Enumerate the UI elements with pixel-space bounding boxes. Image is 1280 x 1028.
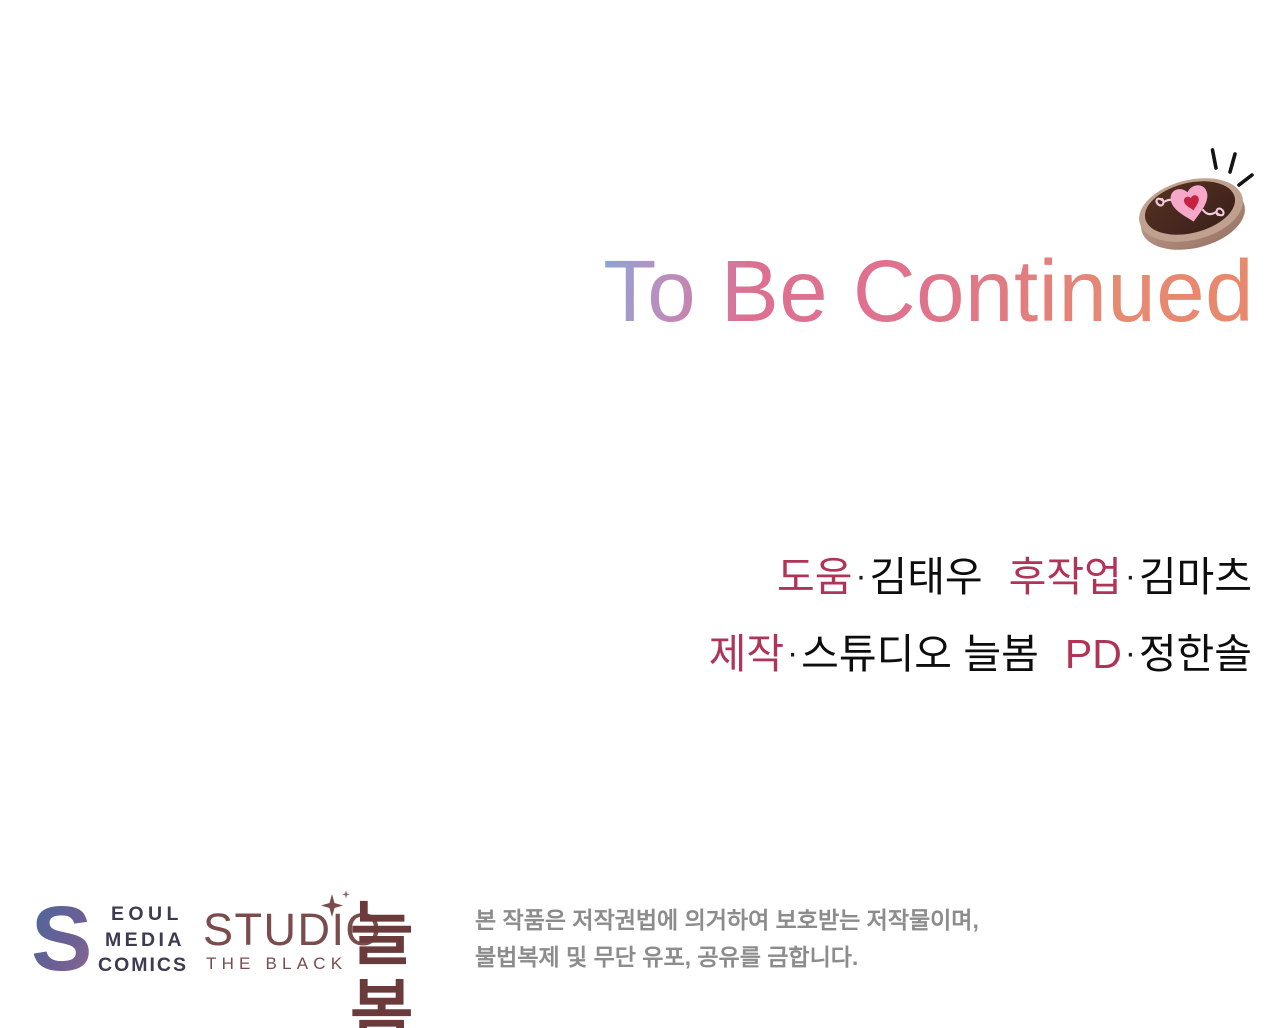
credit-name-production: 스튜디오 늘봄 xyxy=(801,631,1039,677)
wordmark-line-comics: COMICS xyxy=(98,953,188,979)
page-title: To Be Continued xyxy=(603,246,1254,337)
studio-theblack-neulbom-logo: STUDIO THE BLACK 늘봄 xyxy=(198,888,453,980)
monogram-letter-s: S xyxy=(33,894,92,980)
copyright-line-2: 불법복제 및 무단 유포, 공유를 금합니다. xyxy=(475,939,979,976)
theblack-tagline: THE BLACK xyxy=(206,954,347,974)
credit-role-pd: PD xyxy=(1065,631,1122,677)
neulbom-korean-wordmark: 늘봄 xyxy=(350,896,453,1028)
credit-separator: · xyxy=(1122,634,1139,671)
credit-role-assist: 도움 xyxy=(777,554,852,600)
wordmark-line-eoul: EOUL xyxy=(98,902,188,928)
credit-separator: · xyxy=(852,557,869,594)
seoul-media-comics-logo: S EOUL MEDIA COMICS xyxy=(33,894,191,980)
credit-separator: · xyxy=(1122,557,1139,594)
footer: S EOUL MEDIA COMICS STUDIO THE BLACK 늘봄 … xyxy=(0,884,1280,994)
credit-role-production: 제작 xyxy=(709,631,784,677)
copyright-line-1: 본 작품은 저작권법에 의거하여 보호받는 저작물이며, xyxy=(475,902,979,939)
credit-name-postwork: 김마츠 xyxy=(1139,554,1252,600)
credit-name-pd: 정한솔 xyxy=(1139,631,1252,677)
end-card-page: To Be Continued 도움·김태우후작업·김마츠 제작·스튜디오 늘봄… xyxy=(0,0,1280,1028)
credits-block: 도움·김태우후작업·김마츠 제작·스튜디오 늘봄PD·정한솔 xyxy=(0,540,1252,694)
credit-name-assist: 김태우 xyxy=(869,554,982,600)
wordmark-line-media: MEDIA xyxy=(98,928,188,954)
credit-line-2: 제작·스튜디오 늘봄PD·정한솔 xyxy=(0,617,1252,694)
title-block: To Be Continued xyxy=(0,246,1254,337)
credit-role-postwork: 후작업 xyxy=(1009,554,1122,600)
seoul-media-comics-wordmark: EOUL MEDIA COMICS xyxy=(98,902,188,979)
sparkle-star-icon xyxy=(316,888,354,922)
copyright-notice: 본 작품은 저작권법에 의거하여 보호받는 저작물이며, 불법복제 및 무단 유… xyxy=(475,902,979,976)
credit-line-1: 도움·김태우후작업·김마츠 xyxy=(0,540,1252,617)
credit-separator: · xyxy=(784,634,801,671)
